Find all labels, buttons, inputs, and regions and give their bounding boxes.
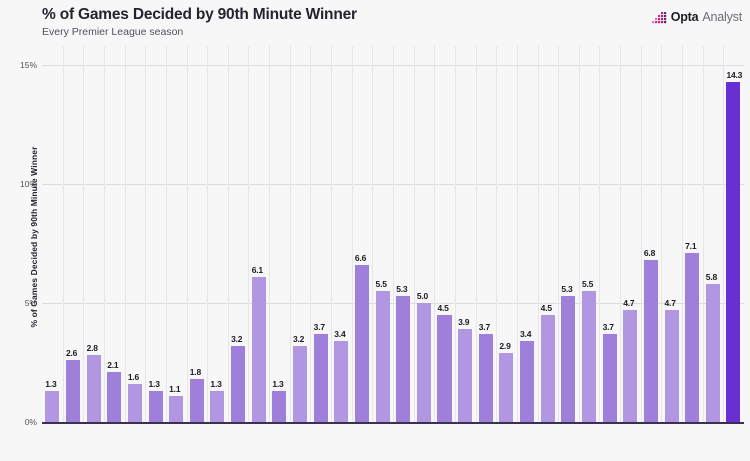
bar-slot: 3.2 <box>228 46 249 422</box>
bar-slot: 4.5 <box>537 46 558 422</box>
bar-slot: 4.7 <box>661 46 682 422</box>
bar-value-label: 3.7 <box>479 322 490 332</box>
bar-slot: 1.3 <box>269 46 290 422</box>
bar[interactable]: 2.6 <box>66 360 80 422</box>
bar-slot: 2.1 <box>104 46 125 422</box>
bar-slot: 2.8 <box>83 46 104 422</box>
bar-value-label: 5.0 <box>417 291 428 301</box>
y-axis-title: % of Games Decided by 90th Minute Winner <box>29 102 39 372</box>
bar-value-label: 2.1 <box>107 360 118 370</box>
bar-value-label: 2.9 <box>499 341 510 351</box>
y-axis-tick-label: 0% <box>25 417 37 427</box>
bar-value-label: 6.8 <box>644 248 655 258</box>
bar-value-label: 2.8 <box>87 343 98 353</box>
bar-value-label: 1.1 <box>169 384 180 394</box>
bar-slot: 2.9 <box>496 46 517 422</box>
bar[interactable]: 1.3 <box>149 391 163 422</box>
bar-value-label: 3.9 <box>458 317 469 327</box>
bar-value-label: 3.4 <box>520 329 531 339</box>
bar-value-label: 4.5 <box>541 303 552 313</box>
bar-slot: 3.4 <box>331 46 352 422</box>
bar-slot: 5.5 <box>372 46 393 422</box>
bar-slot: 5.3 <box>558 46 579 422</box>
bar[interactable]: 2.8 <box>87 355 101 422</box>
bar-value-label: 14.3 <box>726 70 742 80</box>
bar[interactable]: 1.3 <box>45 391 59 422</box>
bar[interactable]: 6.1 <box>252 277 266 422</box>
bar-highlighted[interactable]: 14.3 <box>726 82 740 422</box>
bar-slot: 6.8 <box>641 46 662 422</box>
bar-value-label: 5.8 <box>706 272 717 282</box>
bar[interactable]: 4.5 <box>541 315 555 422</box>
logo-text-opta: Opta <box>671 10 699 24</box>
bar-value-label: 3.2 <box>231 334 242 344</box>
bar-value-label: 5.3 <box>561 284 572 294</box>
bar[interactable]: 3.9 <box>458 329 472 422</box>
bar-slot: 1.3 <box>42 46 63 422</box>
bar-slot: 4.5 <box>434 46 455 422</box>
bar[interactable]: 3.7 <box>314 334 328 422</box>
plot-canvas: 0%5%10%15% 1.32.62.82.11.61.31.11.81.33.… <box>42 46 744 461</box>
bar-value-label: 1.3 <box>45 379 56 389</box>
bar-slot: 3.7 <box>599 46 620 422</box>
y-axis-tick-label: 10% <box>20 179 37 189</box>
bar[interactable]: 5.8 <box>706 284 720 422</box>
bar-slot: 2.6 <box>63 46 84 422</box>
page-subtitle: Every Premier League season <box>42 26 183 38</box>
bar-slot: 5.0 <box>414 46 435 422</box>
bar[interactable]: 1.8 <box>190 379 204 422</box>
bar-slot: 3.7 <box>475 46 496 422</box>
bar-slot: 7.1 <box>682 46 703 422</box>
bar-value-label: 3.2 <box>293 334 304 344</box>
bar-slot: 3.9 <box>455 46 476 422</box>
bar-slot: 6.1 <box>248 46 269 422</box>
bar[interactable]: 4.5 <box>437 315 451 422</box>
bar-slot: 1.3 <box>145 46 166 422</box>
bar[interactable]: 1.1 <box>169 396 183 422</box>
bar[interactable]: 4.7 <box>665 310 679 422</box>
bar-value-label: 4.5 <box>437 303 448 313</box>
bar-slot: 3.7 <box>310 46 331 422</box>
bar[interactable]: 2.9 <box>499 353 513 422</box>
bar[interactable]: 3.7 <box>479 334 493 422</box>
bar[interactable]: 3.2 <box>293 346 307 422</box>
x-axis-baseline <box>42 422 744 424</box>
bar[interactable]: 1.3 <box>272 391 286 422</box>
bar-value-label: 4.7 <box>623 298 634 308</box>
bar[interactable]: 6.8 <box>644 260 658 422</box>
bar-slot: 1.1 <box>166 46 187 422</box>
bar-value-label: 2.6 <box>66 348 77 358</box>
chart-header: % of Games Decided by 90th Minute Winner… <box>0 0 750 46</box>
bar-slot: 6.6 <box>352 46 373 422</box>
bar-value-label: 4.7 <box>665 298 676 308</box>
opta-analyst-logo: Opta Analyst <box>652 10 742 24</box>
y-axis-tick-label: 15% <box>20 60 37 70</box>
bar[interactable]: 5.3 <box>561 296 575 422</box>
bar-series: 1.32.62.82.11.61.31.11.81.33.26.11.33.23… <box>42 46 744 422</box>
bar-slot: 5.5 <box>579 46 600 422</box>
bar[interactable]: 5.5 <box>582 291 596 422</box>
bar[interactable]: 1.6 <box>128 384 142 422</box>
plot-area: % of Games Decided by 90th Minute Winner… <box>0 46 750 461</box>
bar-value-label: 3.7 <box>603 322 614 332</box>
bar-value-label: 5.5 <box>376 279 387 289</box>
bar[interactable]: 3.4 <box>334 341 348 422</box>
bar-slot: 4.7 <box>620 46 641 422</box>
bar-value-label: 1.3 <box>149 379 160 389</box>
y-axis-tick-label: 5% <box>25 298 37 308</box>
bar-value-label: 1.3 <box>210 379 221 389</box>
bar-chart-dots-icon <box>652 11 667 24</box>
bar-value-label: 1.6 <box>128 372 139 382</box>
bar-slot: 5.8 <box>703 46 724 422</box>
bar[interactable]: 3.7 <box>603 334 617 422</box>
bar-value-label: 3.7 <box>314 322 325 332</box>
bar-slot: 1.6 <box>125 46 146 422</box>
bar-slot: 3.2 <box>290 46 311 422</box>
logo-text-analyst: Analyst <box>702 10 742 24</box>
bar[interactable]: 2.1 <box>107 372 121 422</box>
bar[interactable]: 6.6 <box>355 265 369 422</box>
chart-page: % of Games Decided by 90th Minute Winner… <box>0 0 750 461</box>
bar-value-label: 1.8 <box>190 367 201 377</box>
bar-slot: 1.3 <box>207 46 228 422</box>
bar[interactable]: 5.5 <box>376 291 390 422</box>
bar[interactable]: 7.1 <box>685 253 699 422</box>
page-title: % of Games Decided by 90th Minute Winner <box>42 6 357 24</box>
bar[interactable]: 5.3 <box>396 296 410 422</box>
bar[interactable]: 4.7 <box>623 310 637 422</box>
bar-slot: 14.3 <box>723 46 744 422</box>
bar[interactable]: 5.0 <box>417 303 431 422</box>
bar-value-label: 7.1 <box>685 241 696 251</box>
bar-value-label: 6.1 <box>252 265 263 275</box>
bar[interactable]: 3.4 <box>520 341 534 422</box>
bar-value-label: 3.4 <box>334 329 345 339</box>
bar-slot: 3.4 <box>517 46 538 422</box>
bar-slot: 1.8 <box>186 46 207 422</box>
bar-value-label: 1.3 <box>272 379 283 389</box>
bar-value-label: 5.3 <box>396 284 407 294</box>
bar[interactable]: 1.3 <box>210 391 224 422</box>
bar[interactable]: 3.2 <box>231 346 245 422</box>
bar-value-label: 5.5 <box>582 279 593 289</box>
bar-slot: 5.3 <box>393 46 414 422</box>
bar-value-label: 6.6 <box>355 253 366 263</box>
